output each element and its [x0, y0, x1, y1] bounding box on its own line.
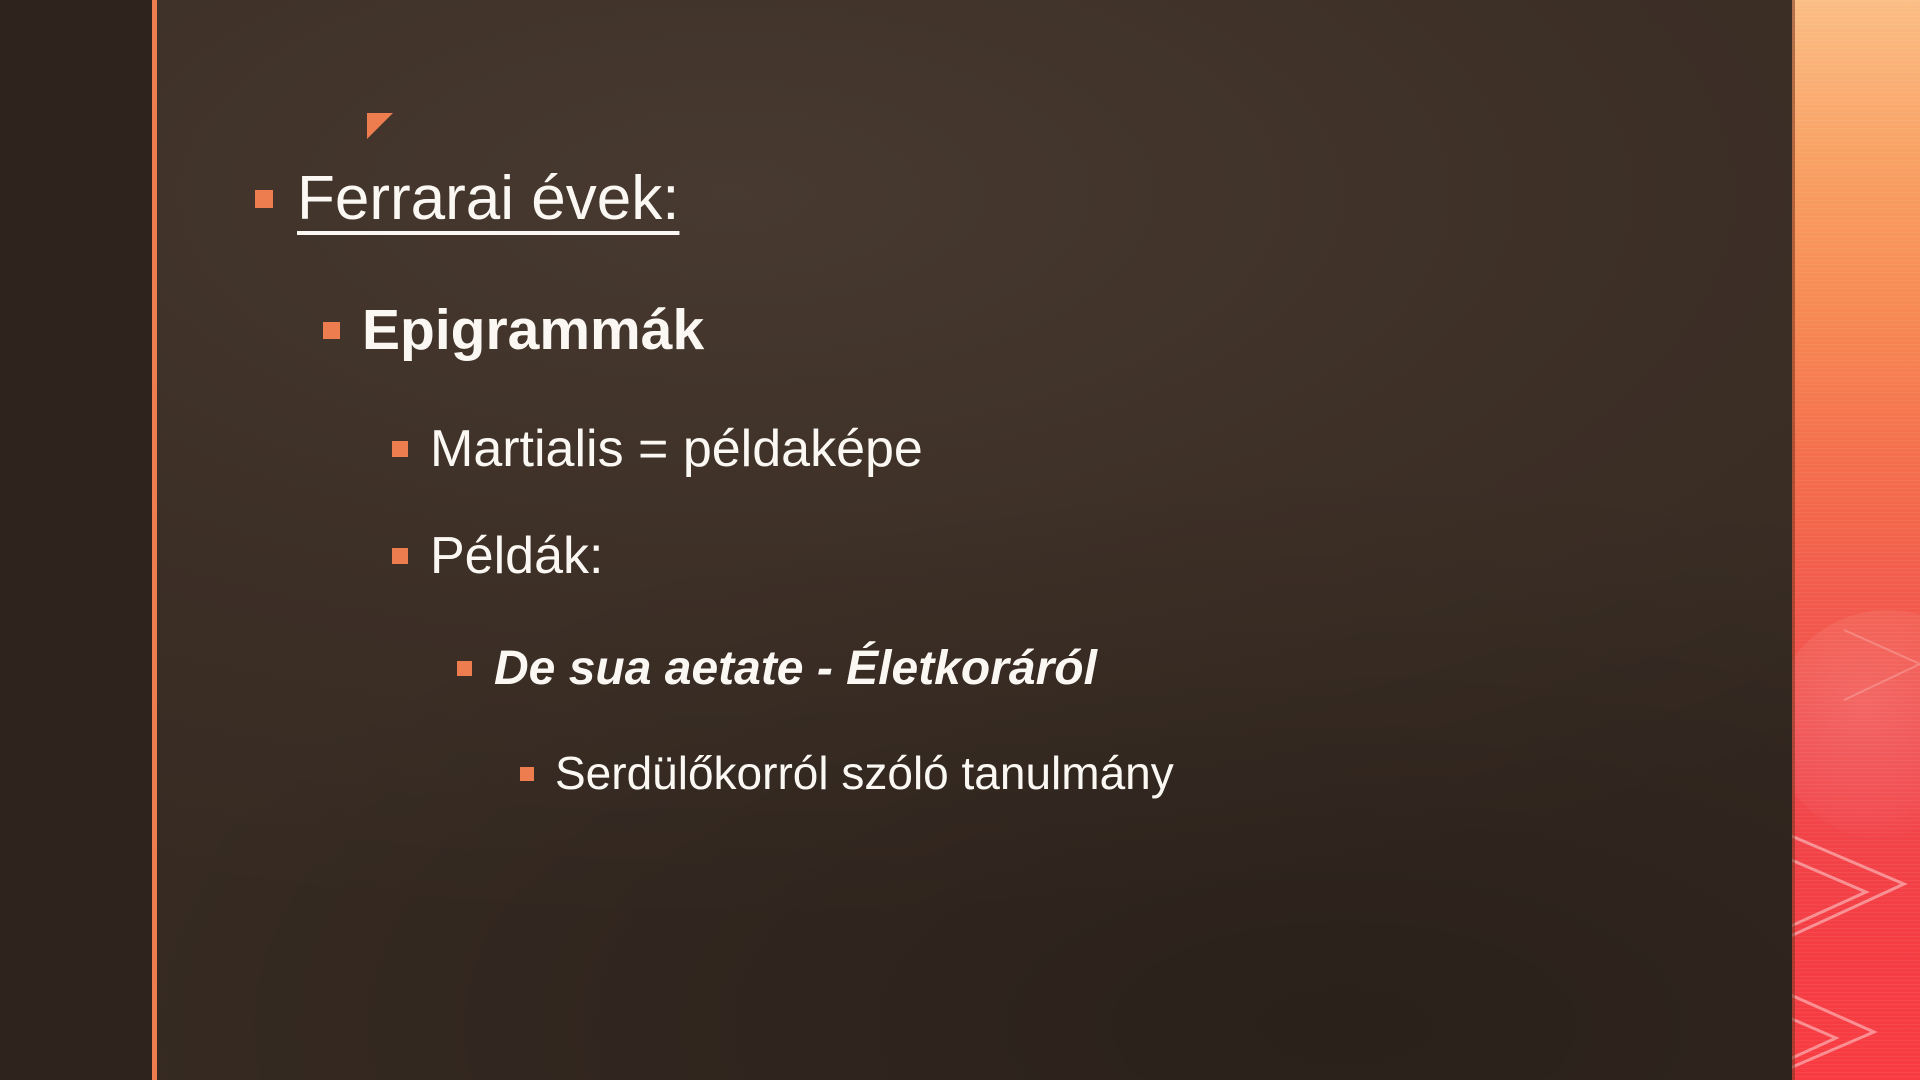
chevron-right-outline-icon	[1792, 0, 1920, 1080]
right-gradient-panel	[1792, 0, 1920, 1080]
square-bullet-icon	[392, 441, 408, 457]
presentation-slide: Ferrarai évek: Epigrammák Martialis = pé…	[0, 0, 1920, 1080]
square-bullet-icon	[323, 322, 340, 339]
left-gutter-band	[0, 0, 152, 1080]
bullet-label: De sua aetate - Életkoráról	[494, 645, 1097, 693]
bullet-label: Martialis = példaképe	[430, 423, 923, 475]
bullet-label: Példák:	[430, 530, 603, 582]
bullet-item-level1[interactable]: Ferrarai évek:	[255, 168, 679, 230]
bullet-label: Epigrammák	[362, 302, 704, 359]
right-panel-edge-rule	[1792, 0, 1795, 1080]
square-bullet-icon	[392, 548, 408, 564]
square-bullet-icon	[255, 190, 273, 208]
bullet-item-level3-martialis[interactable]: Martialis = példaképe	[392, 423, 923, 475]
bullet-item-level3-peldak[interactable]: Példák:	[392, 530, 603, 582]
square-bullet-icon	[457, 661, 472, 676]
bullet-item-level5[interactable]: Serdülőkorról szóló tanulmány	[520, 750, 1174, 796]
slide-content-body: Ferrarai évek: Epigrammák Martialis = pé…	[157, 0, 1792, 1080]
bullet-item-level2[interactable]: Epigrammák	[323, 302, 704, 359]
bullet-item-level4[interactable]: De sua aetate - Életkoráról	[457, 645, 1097, 693]
bullet-label: Serdülőkorról szóló tanulmány	[555, 750, 1174, 796]
bullet-label: Ferrarai évek:	[297, 168, 679, 230]
square-bullet-icon	[520, 767, 534, 781]
